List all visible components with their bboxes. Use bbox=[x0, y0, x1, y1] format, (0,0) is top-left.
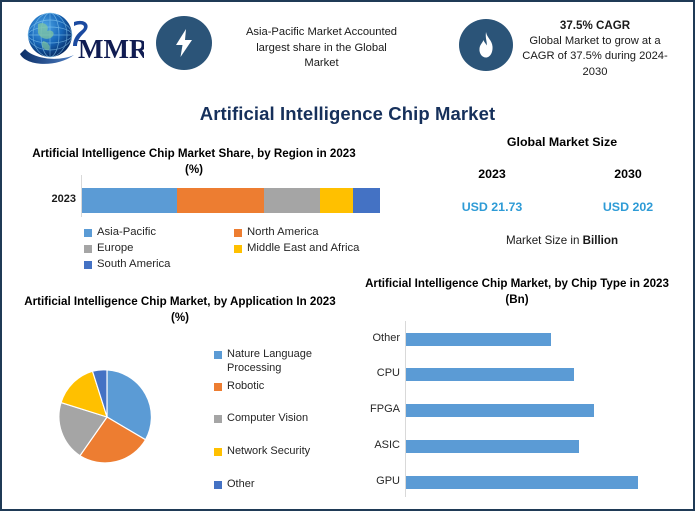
header-banner: MMR Asia-Pacific Market Accounted larges… bbox=[2, 2, 693, 90]
gms-value-2030: USD 202 bbox=[568, 200, 688, 214]
region-category-label: 2023 bbox=[20, 193, 76, 205]
legend-label: Asia-Pacific bbox=[97, 226, 156, 239]
lightning-bolt-icon bbox=[156, 16, 212, 70]
legend-item-robotic: Robotic bbox=[214, 379, 354, 393]
chip-type-bar-fpga bbox=[406, 404, 594, 417]
legend-swatch-icon bbox=[234, 229, 242, 237]
region-segment-south-america bbox=[353, 188, 380, 213]
legend-item-computer-vision: Computer Vision bbox=[214, 411, 354, 425]
legend-label: Robotic bbox=[227, 379, 264, 393]
legend-label: Computer Vision bbox=[227, 411, 308, 425]
chip-type-category-gpu: GPU bbox=[338, 475, 400, 487]
legend-swatch-icon bbox=[84, 245, 92, 253]
gms-unit-prefix: Market Size in bbox=[506, 234, 583, 247]
header-line: CAGR of 37.5% during 2024- bbox=[502, 49, 688, 65]
legend-swatch-icon bbox=[214, 383, 222, 391]
legend-item-middle-east-africa: Middle East and Africa bbox=[234, 242, 384, 255]
region-segment-middle-east-africa bbox=[320, 188, 353, 213]
header-highlight-text-2: 37.5% CAGR Global Market to grow at a CA… bbox=[502, 18, 688, 80]
header-line: Asia-Pacific Market Accounted bbox=[214, 25, 429, 41]
legend-item-nature-language-processing: Nature Language Processing bbox=[214, 347, 354, 375]
legend-item-south-america: South America bbox=[84, 258, 384, 271]
legend-item-asia-pacific: Asia-Pacific bbox=[84, 226, 234, 239]
gms-unit-value: Billion bbox=[583, 234, 618, 247]
pie-graphic bbox=[58, 368, 156, 466]
infographic-page: MMR Asia-Pacific Market Accounted larges… bbox=[0, 0, 695, 511]
chip-type-bar-other bbox=[406, 333, 551, 346]
region-chart-title: Artificial Intelligence Chip Market Shar… bbox=[24, 146, 364, 178]
application-pie-chart bbox=[58, 368, 156, 466]
header-line: Market bbox=[214, 56, 429, 72]
chip-type-category-asic: ASIC bbox=[338, 439, 400, 451]
legend-swatch-icon bbox=[84, 229, 92, 237]
gms-year-2030: 2030 bbox=[568, 167, 688, 181]
legend-label: Network Security bbox=[227, 444, 310, 458]
global-market-size-title: Global Market Size bbox=[432, 135, 692, 149]
gms-unit-note: Market Size in Billion bbox=[432, 234, 692, 247]
legend-swatch-icon bbox=[84, 261, 92, 269]
legend-item-other: Other bbox=[214, 477, 354, 491]
mmr-logo: MMR bbox=[16, 8, 144, 74]
legend-label: South America bbox=[97, 258, 170, 271]
legend-label: Europe bbox=[97, 242, 133, 255]
chip-type-chart-title: Artificial Intelligence Chip Market, by … bbox=[362, 276, 672, 308]
header-line: 2030 bbox=[502, 65, 688, 81]
region-segment-asia-pacific bbox=[82, 188, 177, 213]
legend-label: Nature Language Processing bbox=[227, 347, 354, 375]
application-chart-title: Artificial Intelligence Chip Market, by … bbox=[20, 294, 340, 326]
legend-swatch-icon bbox=[214, 351, 222, 359]
legend-item-network-security: Network Security bbox=[214, 444, 354, 458]
mmr-logo-graphic: MMR bbox=[16, 8, 144, 74]
legend-label: Middle East and Africa bbox=[247, 242, 359, 255]
legend-swatch-icon bbox=[234, 245, 242, 253]
chip-type-category-cpu: CPU bbox=[338, 367, 400, 379]
region-stacked-bar bbox=[82, 188, 380, 213]
chip-type-bar-cpu bbox=[406, 368, 574, 381]
cagr-heading: 37.5% CAGR bbox=[502, 18, 688, 34]
gms-year-2023: 2023 bbox=[432, 167, 552, 181]
legend-item-north-america: North America bbox=[234, 226, 384, 239]
logo-wordmark: MMR bbox=[78, 34, 144, 64]
legend-item-europe: Europe bbox=[84, 242, 234, 255]
page-title: Artificial Intelligence Chip Market bbox=[2, 103, 693, 125]
chip-type-category-fpga: FPGA bbox=[338, 403, 400, 415]
legend-label: North America bbox=[247, 226, 319, 239]
legend-swatch-icon bbox=[214, 415, 222, 423]
chip-type-bar-gpu bbox=[406, 476, 638, 489]
legend-row: Europe Middle East and Africa bbox=[84, 242, 384, 255]
header-highlight-text-1: Asia-Pacific Market Accounted largest sh… bbox=[214, 25, 429, 72]
region-segment-europe bbox=[264, 188, 321, 213]
legend-row: Asia-Pacific North America bbox=[84, 226, 384, 239]
region-segment-north-america bbox=[177, 188, 263, 213]
chip-type-bar-asic bbox=[406, 440, 579, 453]
legend-swatch-icon bbox=[214, 448, 222, 456]
legend-swatch-icon bbox=[214, 481, 222, 489]
legend-label: Other bbox=[227, 477, 255, 491]
header-line: Global Market to grow at a bbox=[502, 34, 688, 50]
application-legend: Nature Language Processing Robotic Compu… bbox=[214, 347, 354, 491]
region-legend: Asia-Pacific North America Europe Middle… bbox=[84, 226, 384, 274]
gms-value-2023: USD 21.73 bbox=[432, 200, 552, 214]
header-line: largest share in the Global bbox=[214, 41, 429, 57]
chip-type-category-other: Other bbox=[338, 332, 400, 344]
legend-row: South America bbox=[84, 258, 384, 271]
